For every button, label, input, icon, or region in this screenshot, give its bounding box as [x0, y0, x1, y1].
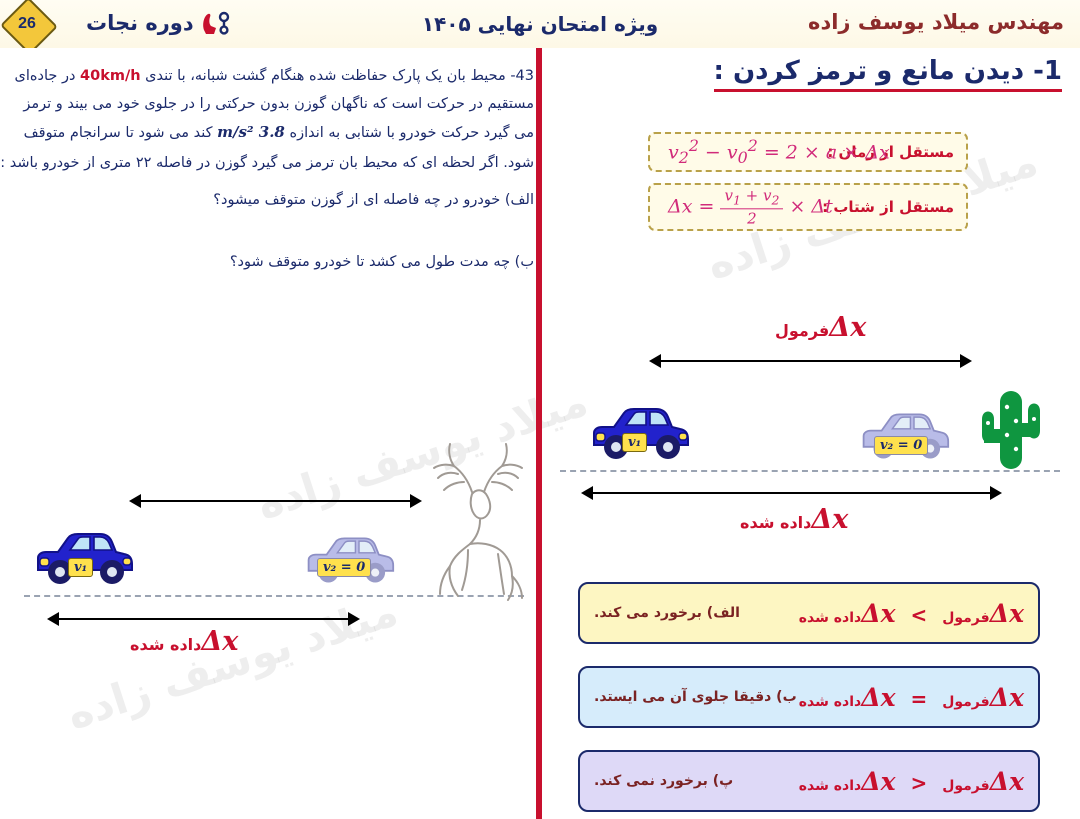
- arrow-line-given: [592, 492, 990, 494]
- highlight-speed: 40km/h: [80, 68, 141, 84]
- answer-expression: Δxفرمول > Δxداده شده: [799, 599, 1024, 628]
- answer-text: الف) برخورد می کند.: [594, 605, 740, 621]
- question-line: شود. اگر لحظه ای که محیط بان ترمز می گیر…: [0, 151, 534, 176]
- arrow-head-left: [649, 354, 661, 368]
- right-diagram-scene: Δxفرمول v₁: [550, 248, 1074, 548]
- left-diagram-scene: v₁ v₂ = 0: [10, 428, 530, 688]
- delta-x-given-label: Δxداده شده: [130, 626, 238, 657]
- car-stopped: v₂ = 0: [295, 524, 405, 600]
- car-speed-label: v₁: [622, 433, 647, 452]
- answer-box-exact-stop: Δxفرمول = Δxداده شده ب) دقیقا جلوی آن می…: [578, 666, 1040, 728]
- car-moving: v₁: [580, 393, 700, 477]
- page-body: میلاد یوسف زاده میلاد یوسف زاده میلاد یو…: [0, 48, 1080, 819]
- formula-label: مستقل از شتاب :: [822, 198, 954, 216]
- delta-x-given-label: Δxداده شده: [740, 504, 848, 535]
- deer-icon: [410, 438, 540, 607]
- course-label: دوره نجات: [86, 11, 194, 35]
- question-line: 43- محیط بان یک پارک حفاظت شده هنگام گشت…: [15, 64, 534, 89]
- answer-box-collision: Δxفرمول > Δxداده شده الف) برخورد می کند.: [578, 582, 1040, 644]
- arrow-head-right: [348, 612, 360, 626]
- section-title: 1- دیدن مانع و ترمز کردن :: [714, 56, 1063, 92]
- car-moving: v₁: [24, 518, 144, 602]
- car-stopped-speed-label: v₂ = 0: [874, 436, 928, 455]
- arrow-head-right: [410, 494, 422, 508]
- car-stopped: v₂ = 0: [850, 400, 960, 476]
- arrow-head-right: [990, 486, 1002, 500]
- hand-stethoscope-icon: [198, 8, 234, 40]
- arrow-head-left: [47, 612, 59, 626]
- exam-title: ویژه امتحان نهایی ۱۴۰۵: [422, 12, 658, 36]
- answer-expression: Δxفرمول < Δxداده شده: [799, 767, 1024, 796]
- author-name: مهندس میلاد یوسف زاده: [808, 10, 1064, 34]
- arrow-line-stop: [140, 500, 410, 502]
- formula-expression: Δx = v1 + v22 × Δt: [668, 186, 833, 227]
- column-divider: [536, 48, 542, 819]
- page-header: 26 دوره نجات ویژه امتحان نهایی ۱۴۰۵ مهند…: [0, 0, 1080, 51]
- arrow-line-given: [58, 618, 348, 620]
- question-part-b: ب) چه مدت طول می کشد تا خودرو متوقف شود؟: [230, 250, 534, 275]
- page-number-text: 26: [8, 6, 46, 42]
- cactus-icon: [960, 373, 1060, 477]
- answer-box-no-collision: Δxفرمول < Δxداده شده پ) برخورد نمی کند.: [578, 750, 1040, 812]
- arrow-head-left: [129, 494, 141, 508]
- highlight-accel: 3.8 m/s²: [217, 123, 285, 141]
- formula-expression: v22 − v02 = 2 × a × Δx: [668, 136, 890, 167]
- answer-text: پ) برخورد نمی کند.: [594, 773, 733, 789]
- question-line: مستقیم در حرکت است که ناگهان گوزن بدون ح…: [23, 92, 534, 117]
- formula-box-accel-independent: مستقل از شتاب : Δx = v1 + v22 × Δt: [648, 183, 968, 231]
- car-speed-label: v₁: [68, 558, 93, 577]
- formula-box-time-independent: مستقل از زمان : v22 − v02 = 2 × a × Δx: [648, 132, 968, 172]
- answer-expression: Δxفرمول = Δxداده شده: [799, 683, 1024, 712]
- answer-text: ب) دقیقا جلوی آن می ایستد.: [594, 689, 797, 705]
- delta-x-formula-label: Δxفرمول: [775, 312, 866, 343]
- arrow-head-right: [960, 354, 972, 368]
- question-line: می گیرد حرکت خودرو با شتابی به اندازه 3.…: [24, 120, 534, 146]
- car-stopped-speed-label: v₂ = 0: [317, 558, 371, 577]
- arrow-head-left: [581, 486, 593, 500]
- arrow-line-formula: [660, 360, 960, 362]
- question-part-a: الف) خودرو در چه فاصله ای از گوزن متوقف …: [213, 188, 534, 213]
